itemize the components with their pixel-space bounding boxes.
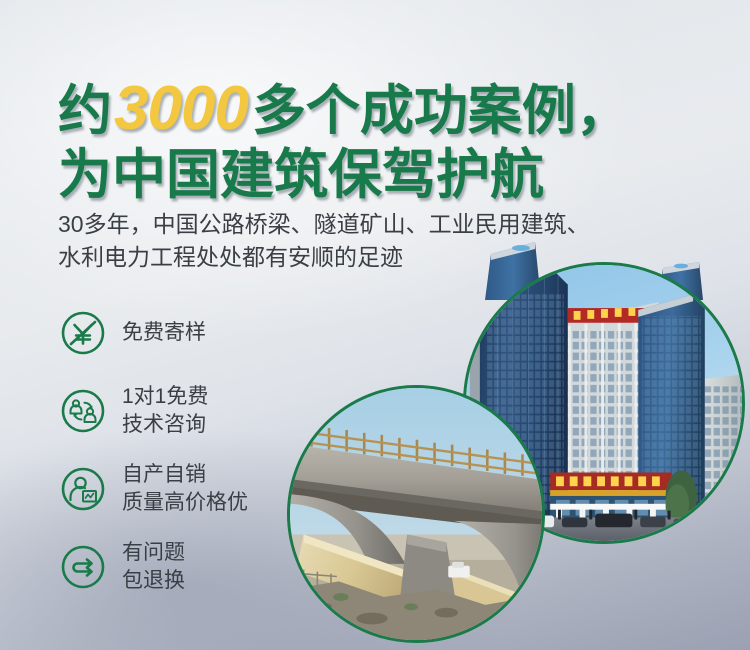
feature-text-line: 自产自销 bbox=[122, 461, 248, 489]
feature-item-label: 免费寄样 bbox=[122, 319, 206, 347]
feature-text-line: 1对1免费 bbox=[122, 383, 208, 411]
headline-line-1: 约3000多个成功案例， bbox=[58, 78, 630, 140]
feature-text-line: 质量高价格优 bbox=[122, 489, 248, 517]
promo-banner: 约3000多个成功案例， 为中国建筑保驾护航 30多年，中国公路桥梁、隧道矿山、… bbox=[0, 0, 750, 650]
feature-list: 免费寄样 1对1免费 技术咨询 bbox=[60, 296, 248, 608]
subtitle: 30多年，中国公路桥梁、隧道矿山、工业民用建筑、 水利电力工程处处都有安顺的足迹 bbox=[58, 208, 590, 273]
feature-item-consultation[interactable]: 1对1免费 技术咨询 bbox=[60, 374, 248, 448]
person-chart-icon bbox=[60, 466, 106, 512]
feature-item-self-production[interactable]: 自产自销 质量高价格优 bbox=[60, 452, 248, 526]
subtitle-line-2: 水利电力工程处处都有安顺的足迹 bbox=[58, 241, 590, 274]
two-people-exchange-icon bbox=[60, 388, 106, 434]
subtitle-line-1: 30多年，中国公路桥梁、隧道矿山、工业民用建筑、 bbox=[58, 208, 590, 241]
feature-text-line: 有问题 bbox=[122, 539, 185, 567]
feature-item-free-sample[interactable]: 免费寄样 bbox=[60, 296, 248, 370]
headline-line-2: 为中国建筑保驾护航 bbox=[58, 148, 630, 202]
feature-item-label: 自产自销 质量高价格优 bbox=[122, 461, 248, 516]
feature-text-line: 包退换 bbox=[122, 567, 185, 595]
headline-prefix: 约 bbox=[58, 81, 112, 141]
feature-item-label: 有问题 包退换 bbox=[122, 539, 185, 594]
feature-item-label: 1对1免费 技术咨询 bbox=[122, 383, 208, 438]
headline: 约3000多个成功案例， 为中国建筑保驾护航 bbox=[58, 78, 630, 202]
headline-suffix: 多个成功案例， bbox=[252, 81, 630, 141]
swap-arrows-icon bbox=[60, 544, 106, 590]
yuan-slash-icon bbox=[60, 310, 106, 356]
feature-item-returns[interactable]: 有问题 包退换 bbox=[60, 530, 248, 604]
bridge-photo bbox=[287, 385, 545, 643]
headline-number: 3000 bbox=[112, 74, 252, 143]
feature-text-line: 技术咨询 bbox=[122, 411, 208, 439]
feature-text-line: 免费寄样 bbox=[122, 319, 206, 347]
